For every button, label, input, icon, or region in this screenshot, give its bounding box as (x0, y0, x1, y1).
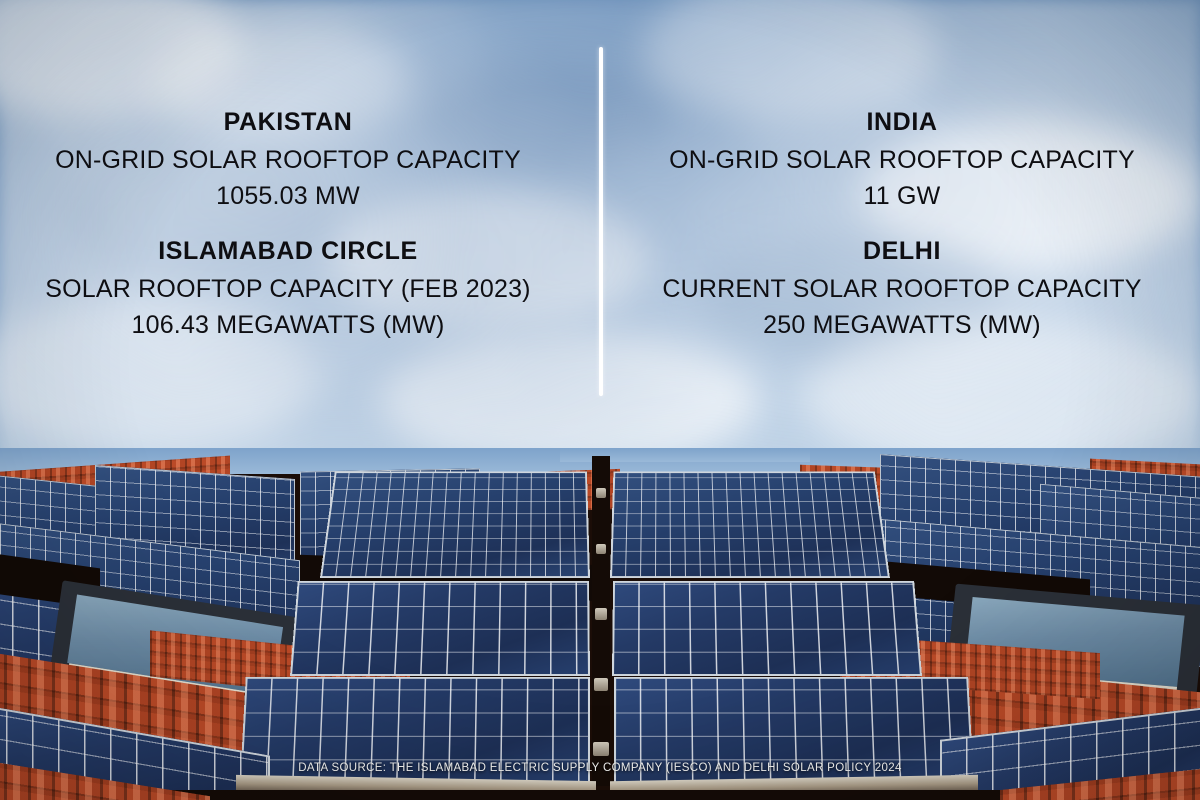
panel-clamp (596, 488, 606, 498)
islamabad-metric-label: SOLAR ROOFTOP CAPACITY (FEB 2023) (8, 271, 568, 307)
solar-panel (612, 581, 922, 676)
left-text-column: PAKISTAN ON-GRID SOLAR ROOFTOP CAPACITY … (0, 0, 600, 470)
panel-clamp (595, 608, 607, 620)
delhi-metric-label: CURRENT SOLAR ROOFTOP CAPACITY (622, 271, 1182, 307)
india-metric-label: ON-GRID SOLAR ROOFTOP CAPACITY (622, 142, 1182, 178)
panel-clamp (596, 544, 606, 554)
delhi-metric-value: 250 MEGAWATTS (MW) (622, 307, 1182, 343)
solar-panel (290, 581, 590, 676)
under-panel-shadow (150, 790, 1070, 800)
islamabad-metric-value: 106.43 MEGAWATTS (MW) (8, 307, 568, 343)
data-source-caption: DATA SOURCE: THE ISLAMABAD ELECTRIC SUPP… (0, 762, 1200, 774)
right-text-column: INDIA ON-GRID SOLAR ROOFTOP CAPACITY 11 … (600, 0, 1200, 470)
panel-clamp (594, 678, 608, 691)
pakistan-country-label: PAKISTAN (8, 106, 568, 138)
panel-mounting-seam (592, 456, 610, 786)
solar-rooftop-photo (0, 448, 1200, 800)
panel-clamp (593, 742, 609, 756)
islamabad-region-label: ISLAMABAD CIRCLE (8, 235, 568, 267)
infographic-image: PAKISTAN ON-GRID SOLAR ROOFTOP CAPACITY … (0, 0, 1200, 800)
delhi-region-label: DELHI (622, 235, 1182, 267)
pakistan-metric-value: 1055.03 MW (8, 178, 568, 214)
delhi-stat-block: DELHI CURRENT SOLAR ROOFTOP CAPACITY 250… (622, 235, 1182, 343)
india-stat-block: INDIA ON-GRID SOLAR ROOFTOP CAPACITY 11 … (622, 106, 1182, 214)
india-country-label: INDIA (622, 106, 1182, 138)
solar-panel (320, 471, 590, 578)
pakistan-metric-label: ON-GRID SOLAR ROOFTOP CAPACITY (8, 142, 568, 178)
india-metric-value: 11 GW (622, 178, 1182, 214)
islamabad-stat-block: ISLAMABAD CIRCLE SOLAR ROOFTOP CAPACITY … (8, 235, 568, 343)
solar-panel (610, 471, 890, 578)
pakistan-stat-block: PAKISTAN ON-GRID SOLAR ROOFTOP CAPACITY … (8, 106, 568, 214)
